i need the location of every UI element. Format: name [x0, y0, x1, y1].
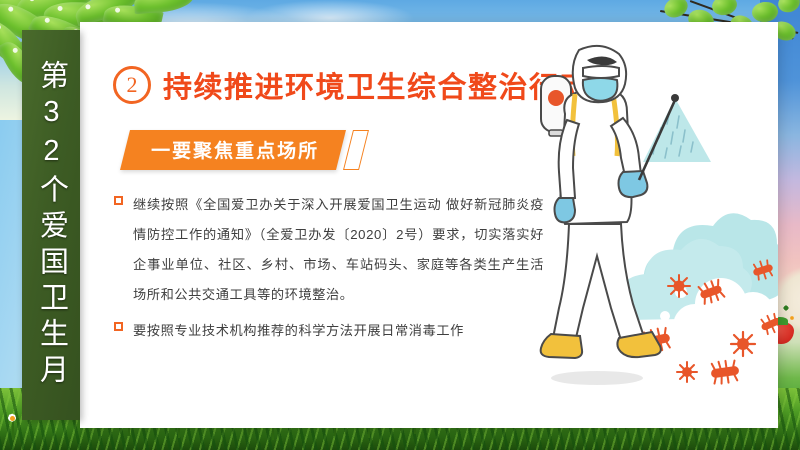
- figure-shadow: [551, 371, 643, 385]
- boot-left-icon: [541, 334, 582, 358]
- list-item: 要按照专业技术机构推荐的科学方法开展日常消毒工作: [114, 316, 544, 346]
- face-mask-icon: [583, 78, 618, 101]
- page-title: 2 持续推进环境卫生综合整治行动: [113, 64, 590, 106]
- content-card: 2 持续推进环境卫生综合整治行动 一要聚焦重点场所 继续按照《全国爱卫办关于深入…: [80, 22, 778, 428]
- section-number-badge: 2: [113, 66, 151, 104]
- section-ribbon: 一要聚焦重点场所: [125, 130, 364, 170]
- list-item-text: 继续按照《全国爱卫办关于深入开展爱国卫生运动 做好新冠肺炎疫情防控工作的通知》（…: [133, 190, 544, 310]
- ribbon-slash-decor: [343, 130, 369, 170]
- list-item: 继续按照《全国爱卫办关于深入开展爱国卫生运动 做好新冠肺炎疫情防控工作的通知》（…: [114, 190, 544, 310]
- goggles-icon: [583, 66, 619, 78]
- glove-left-icon: [555, 198, 576, 222]
- bullet-list: 继续按照《全国爱卫办关于深入开展爱国卫生运动 做好新冠肺炎疫情防控工作的通知》（…: [114, 190, 544, 352]
- page-title-text: 持续推进环境卫生综合整治行动: [163, 64, 590, 106]
- list-item-text: 要按照专业技术机构推荐的科学方法开展日常消毒工作: [133, 316, 464, 346]
- ribbon-label: 一要聚焦重点场所: [151, 136, 319, 163]
- square-bullet-icon: [114, 322, 123, 331]
- slide-canvas: 第32个爱国卫生月 2 持续推进环境卫生综合整治行动 一要聚焦重点场所 继续按照…: [0, 0, 800, 450]
- square-bullet-icon: [114, 196, 123, 205]
- ribbon-body: 一要聚焦重点场所: [120, 130, 346, 170]
- spray-cone-icon: [643, 98, 711, 162]
- vertical-title-text: 第32个爱国卫生月: [37, 60, 66, 390]
- disinfection-worker-illustration: [535, 42, 778, 402]
- glove-right-icon: [619, 171, 648, 197]
- vertical-title-bar: 第32个爱国卫生月: [22, 30, 80, 420]
